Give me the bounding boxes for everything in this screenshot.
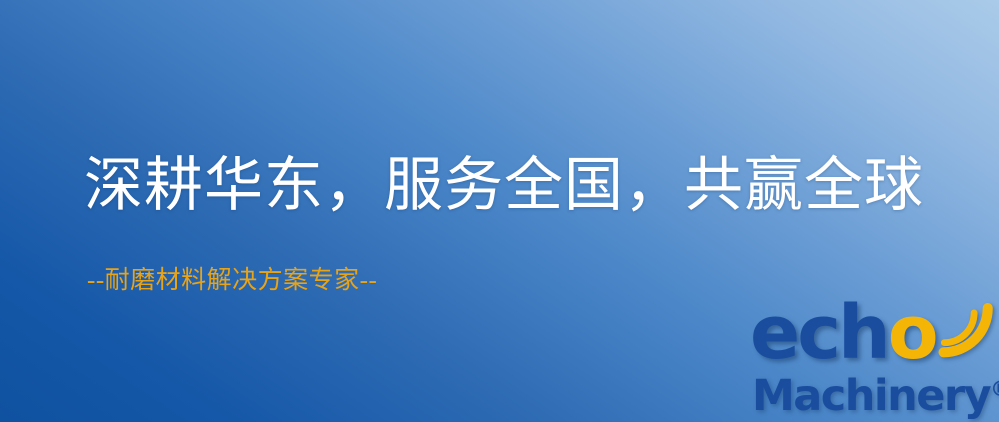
registered-trademark-mark: ® bbox=[990, 377, 999, 401]
logo-wordmark: echo bbox=[750, 296, 936, 370]
logo-tagline: Machinery® bbox=[752, 364, 999, 421]
echo-signal-arcs-icon bbox=[929, 294, 999, 364]
logo-tagline-text: Machinery bbox=[752, 371, 990, 421]
company-logo[interactable]: echo Machinery® bbox=[746, 296, 999, 422]
hero-banner: 深耕华东，服务全国，共赢全球 --耐磨材料解决方案专家-- echo Machi… bbox=[0, 0, 999, 422]
banner-headline: 深耕华东，服务全国，共赢全球 bbox=[84, 152, 924, 218]
banner-subtitle: --耐磨材料解决方案专家-- bbox=[87, 266, 377, 296]
